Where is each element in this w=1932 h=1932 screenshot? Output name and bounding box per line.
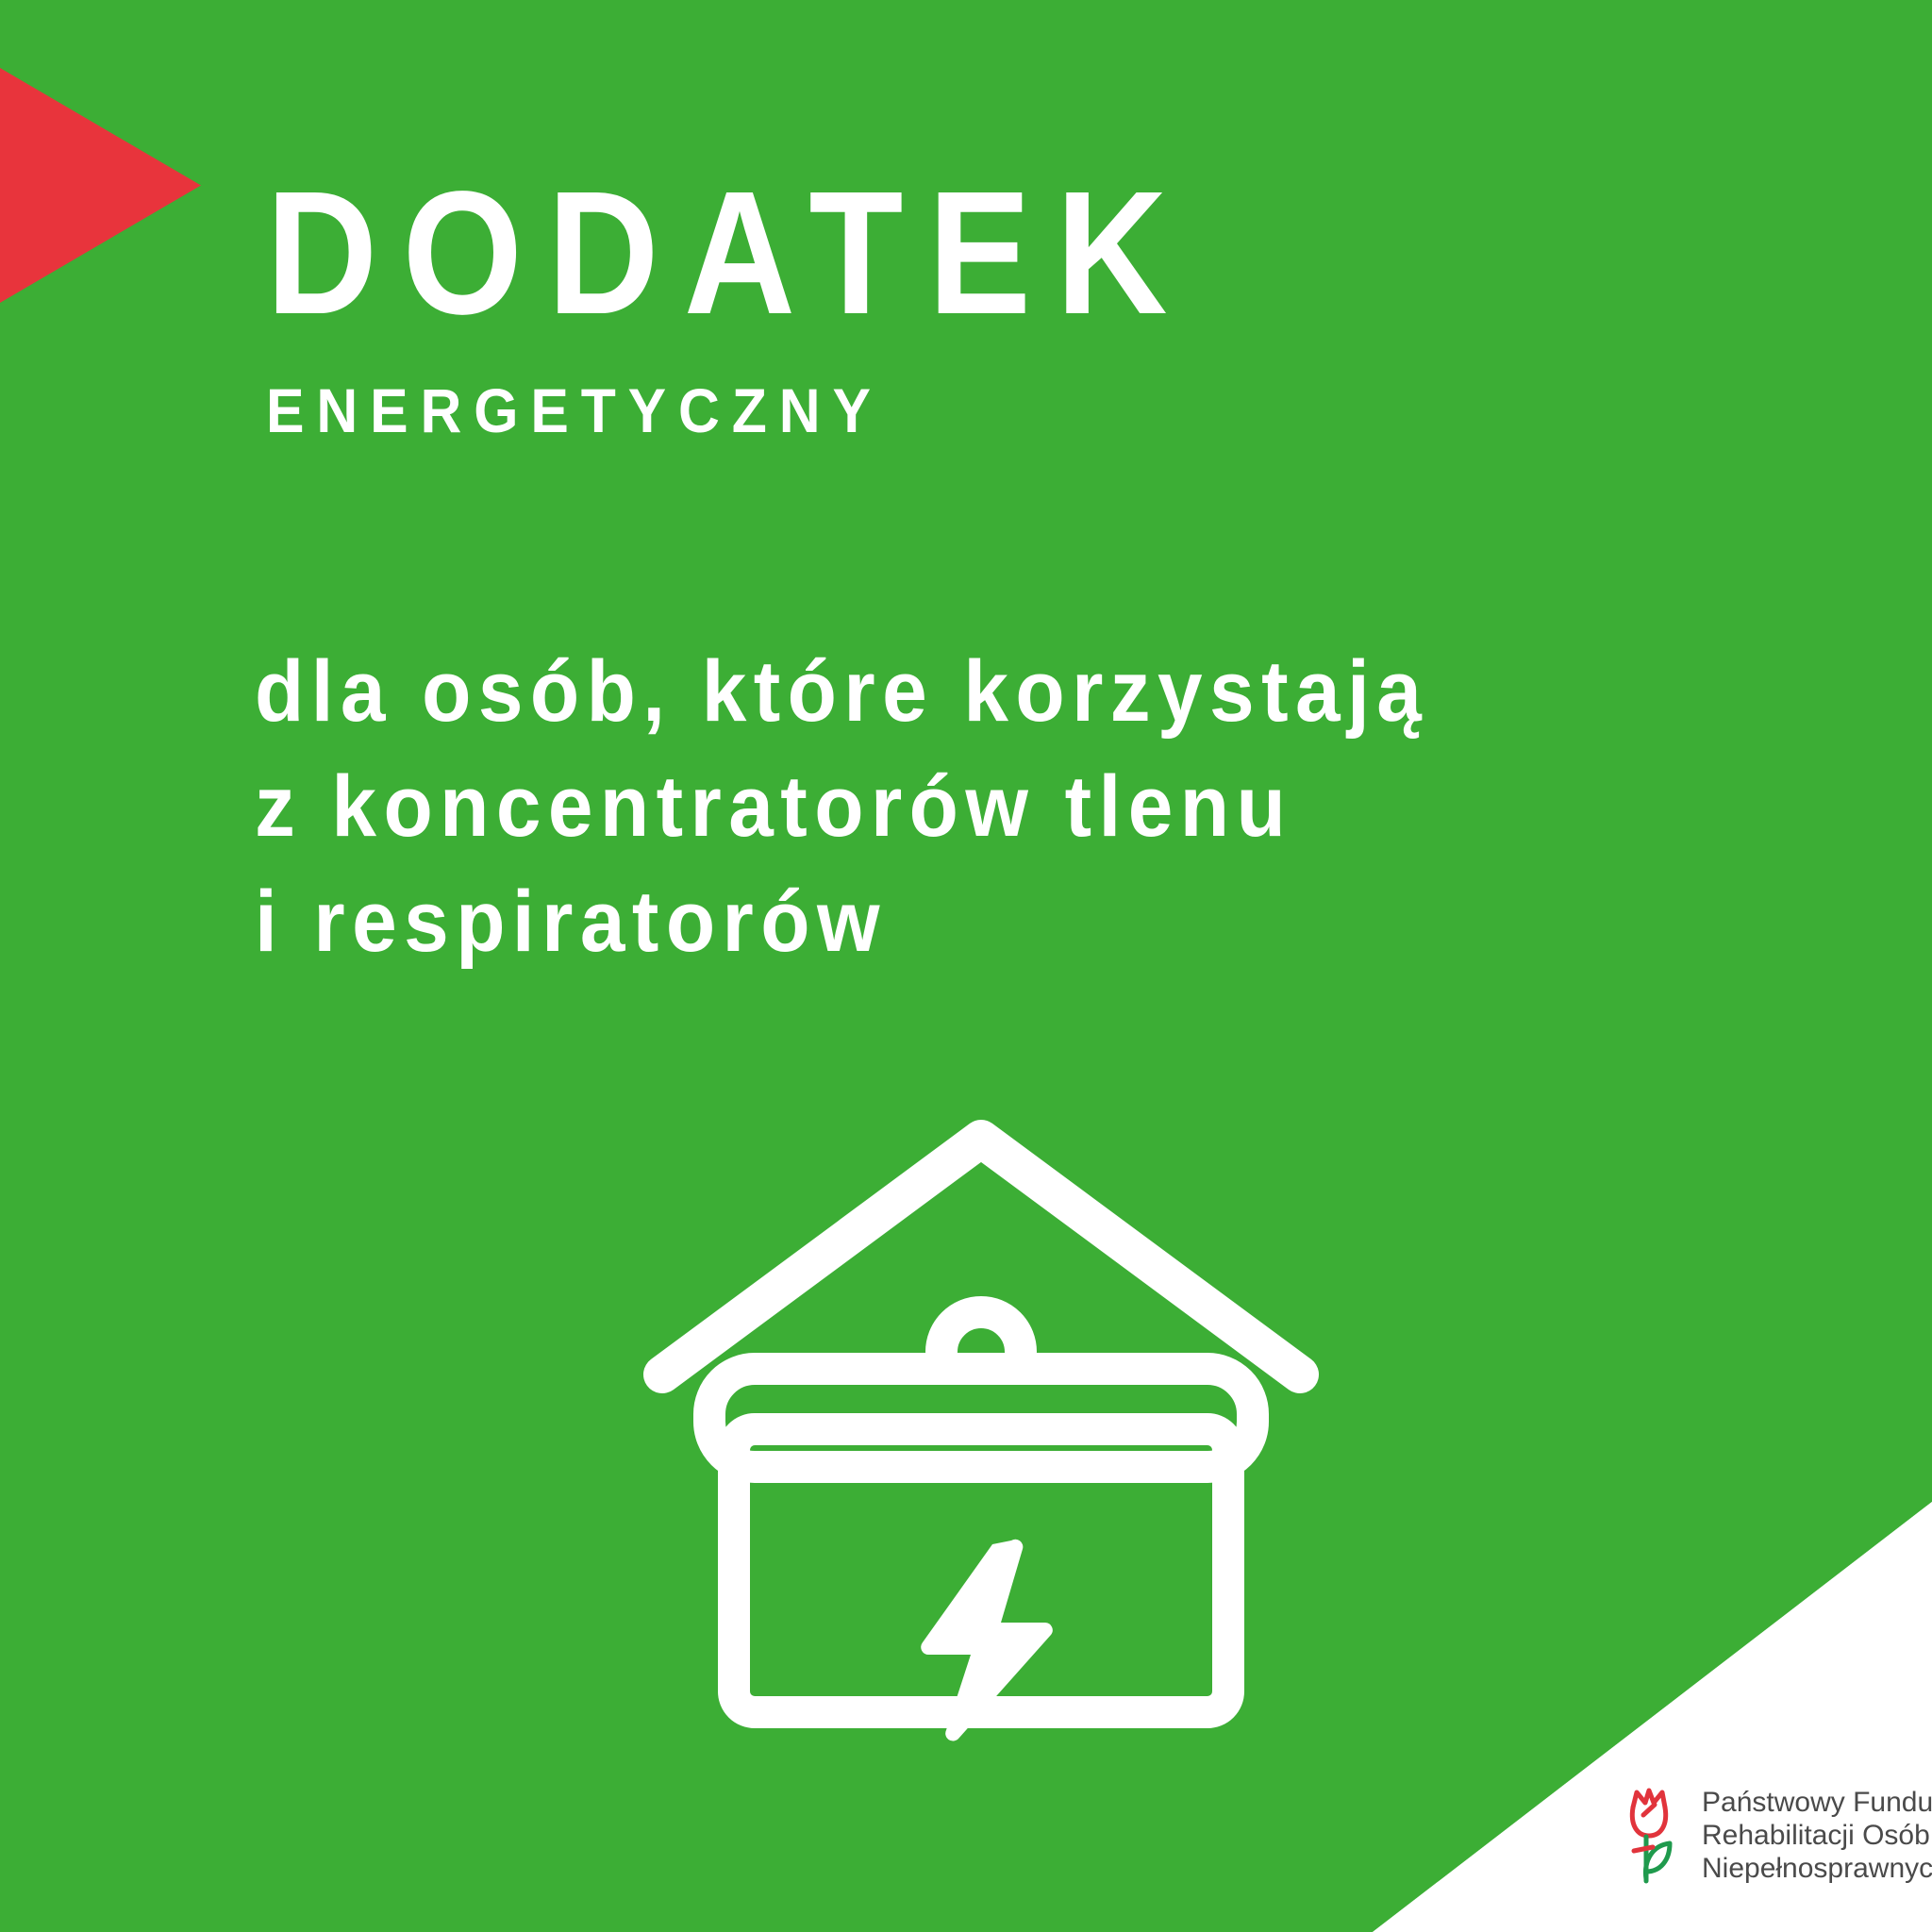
body-line-1: dla osób, które korzystają (255, 634, 1746, 749)
body-line-2: z koncentratorów tlenu (255, 749, 1746, 864)
headline-block: DODATEK ENERGETYCZNY (266, 166, 1775, 441)
battery-handle-loop-shape (941, 1312, 1021, 1352)
pfron-tulip-icon (1621, 1787, 1685, 1885)
pfron-logo: Państwowy Fundusz Rehabilitacji Osób Nie… (1621, 1786, 1932, 1885)
pfron-logo-line-1: Państwowy Fundusz (1702, 1786, 1932, 1819)
poster-canvas: DODATEK ENERGETYCZNY dla osób, które kor… (0, 0, 1932, 1932)
roof-chevron-shape (662, 1139, 1300, 1374)
pfron-logo-line-3: Niepełnosprawnych (1702, 1852, 1932, 1885)
page-subtitle: ENERGETYCZNY (266, 379, 1655, 441)
page-title: DODATEK (266, 166, 1594, 341)
pfron-logo-line-2: Rehabilitacji Osób (1702, 1819, 1932, 1852)
pfron-logo-text: Państwowy Fundusz Rehabilitacji Osób Nie… (1702, 1786, 1932, 1885)
body-copy: dla osób, które korzystają z koncentrato… (255, 634, 1858, 979)
body-line-3: i respiratorów (255, 864, 1746, 979)
house-battery-energy-icon (623, 1118, 1340, 1759)
